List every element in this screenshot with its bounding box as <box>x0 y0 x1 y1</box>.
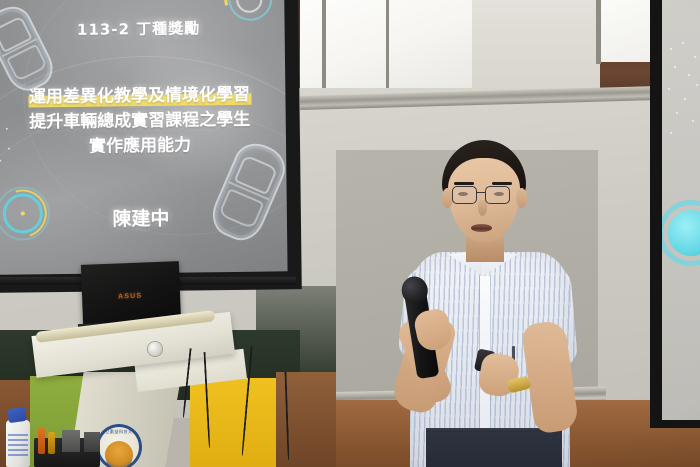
wall-pillar <box>472 0 600 100</box>
bottle-label <box>8 434 28 456</box>
trousers <box>426 432 562 467</box>
slide-title-line-1: 運用差異化教學及情境化學習 <box>0 82 282 110</box>
nose <box>478 200 487 216</box>
board-eraser <box>84 432 100 452</box>
spray-bottle <box>6 420 30 467</box>
school-emblem: 國立勤益科技大學 <box>96 424 142 467</box>
ear-right <box>516 188 527 208</box>
photo-scene: 113-2 丁種獎勵 運用差異化教學及情境化學習 提升車輛總成實習課程之學生 實… <box>0 0 700 467</box>
slide-title-line-3: 實作應用能力 <box>0 132 282 160</box>
window-mullion <box>386 0 389 96</box>
glasses-lens-left <box>452 186 477 204</box>
slide-presenter-name: 陳建中 <box>0 202 287 233</box>
school-emblem-inner <box>105 441 133 467</box>
presenter-person <box>388 140 578 467</box>
window-mullion <box>322 0 326 100</box>
eyebrow-right <box>492 182 512 185</box>
yellow-marker-icon <box>48 432 55 454</box>
projection-screen-slide: 113-2 丁種獎勵 運用差異化教學及情境化學習 提升車輛總成實習課程之學生 實… <box>0 0 288 275</box>
slide-kicker: 113-2 丁種獎勵 <box>0 16 285 41</box>
board-eraser <box>62 430 80 452</box>
bottle-cap <box>7 407 27 423</box>
slide-title-line-2: 提升車輛總成實習課程之學生 <box>0 107 282 135</box>
glasses-bridge <box>477 192 485 193</box>
window-mullion <box>596 0 601 64</box>
asus-logo: ASUS <box>118 293 143 301</box>
glasses-lens-right <box>485 186 510 204</box>
projection-screen-frame: 113-2 丁種獎勵 運用差異化教學及情境化學習 提升車輛總成實習課程之學生 實… <box>0 0 302 293</box>
wall-panel-yellow <box>190 378 282 467</box>
eyebrow-left <box>454 182 474 185</box>
mouth <box>471 224 492 232</box>
orange-marker-icon <box>38 428 45 454</box>
slide-title: 運用差異化教學及情境化學習 提升車輛總成實習課程之學生 實作應用能力 <box>0 82 282 160</box>
podium-knob[interactable] <box>148 342 162 356</box>
projection-screen-right <box>662 0 700 420</box>
school-emblem-text: 國立勤益科技大學 <box>96 429 142 435</box>
